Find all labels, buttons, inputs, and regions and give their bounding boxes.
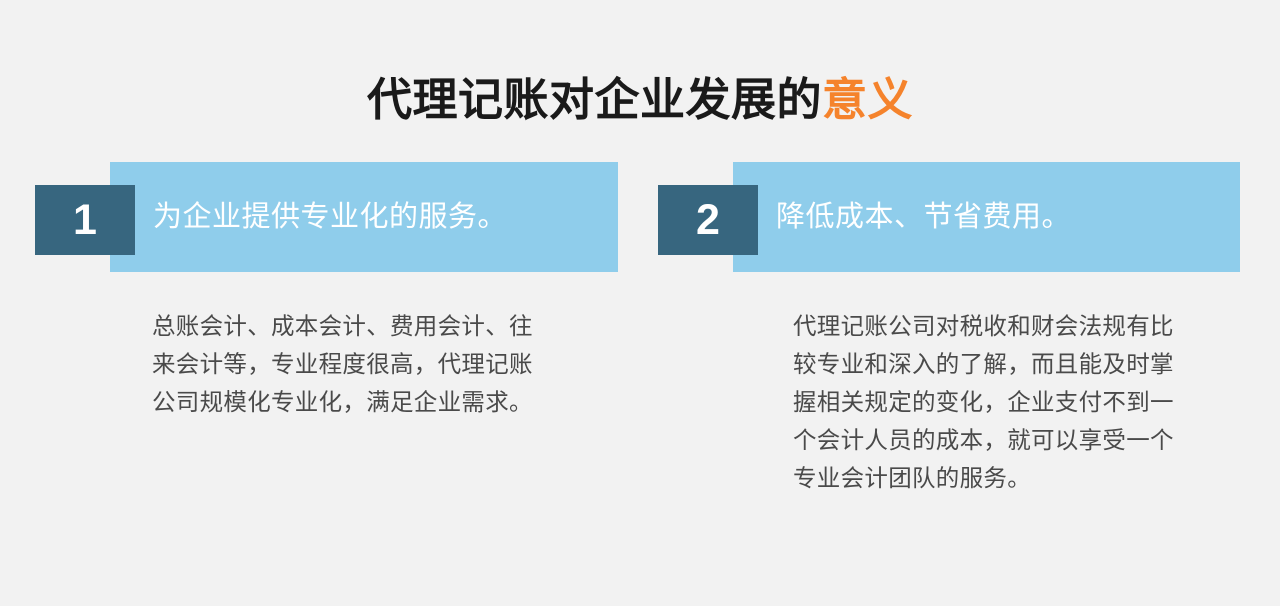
point-card-1-body: 总账会计、成本会计、费用会计、往来会计等，专业程度很高，代理记账公司规模化专业化…	[152, 307, 552, 421]
slide-canvas: 代理记账对企业发展的意义 1 为企业提供专业化的服务。 总账会计、成本会计、费用…	[0, 0, 1280, 606]
page-title-accent: 意义	[822, 74, 913, 125]
point-card-1-heading: 为企业提供专业化的服务。	[153, 162, 507, 272]
point-card-2-heading: 降低成本、节省费用。	[776, 162, 1071, 272]
page-title-main: 代理记账对企业发展的	[367, 74, 822, 125]
point-card-2-body: 代理记账公司对税收和财会法规有比较专业和深入的了解，而且能及时掌握相关规定的变化…	[793, 307, 1193, 497]
point-card-1-number-badge: 1	[35, 185, 135, 255]
point-card-2-number-badge: 2	[658, 185, 758, 255]
page-title: 代理记账对企业发展的意义	[0, 72, 1280, 128]
